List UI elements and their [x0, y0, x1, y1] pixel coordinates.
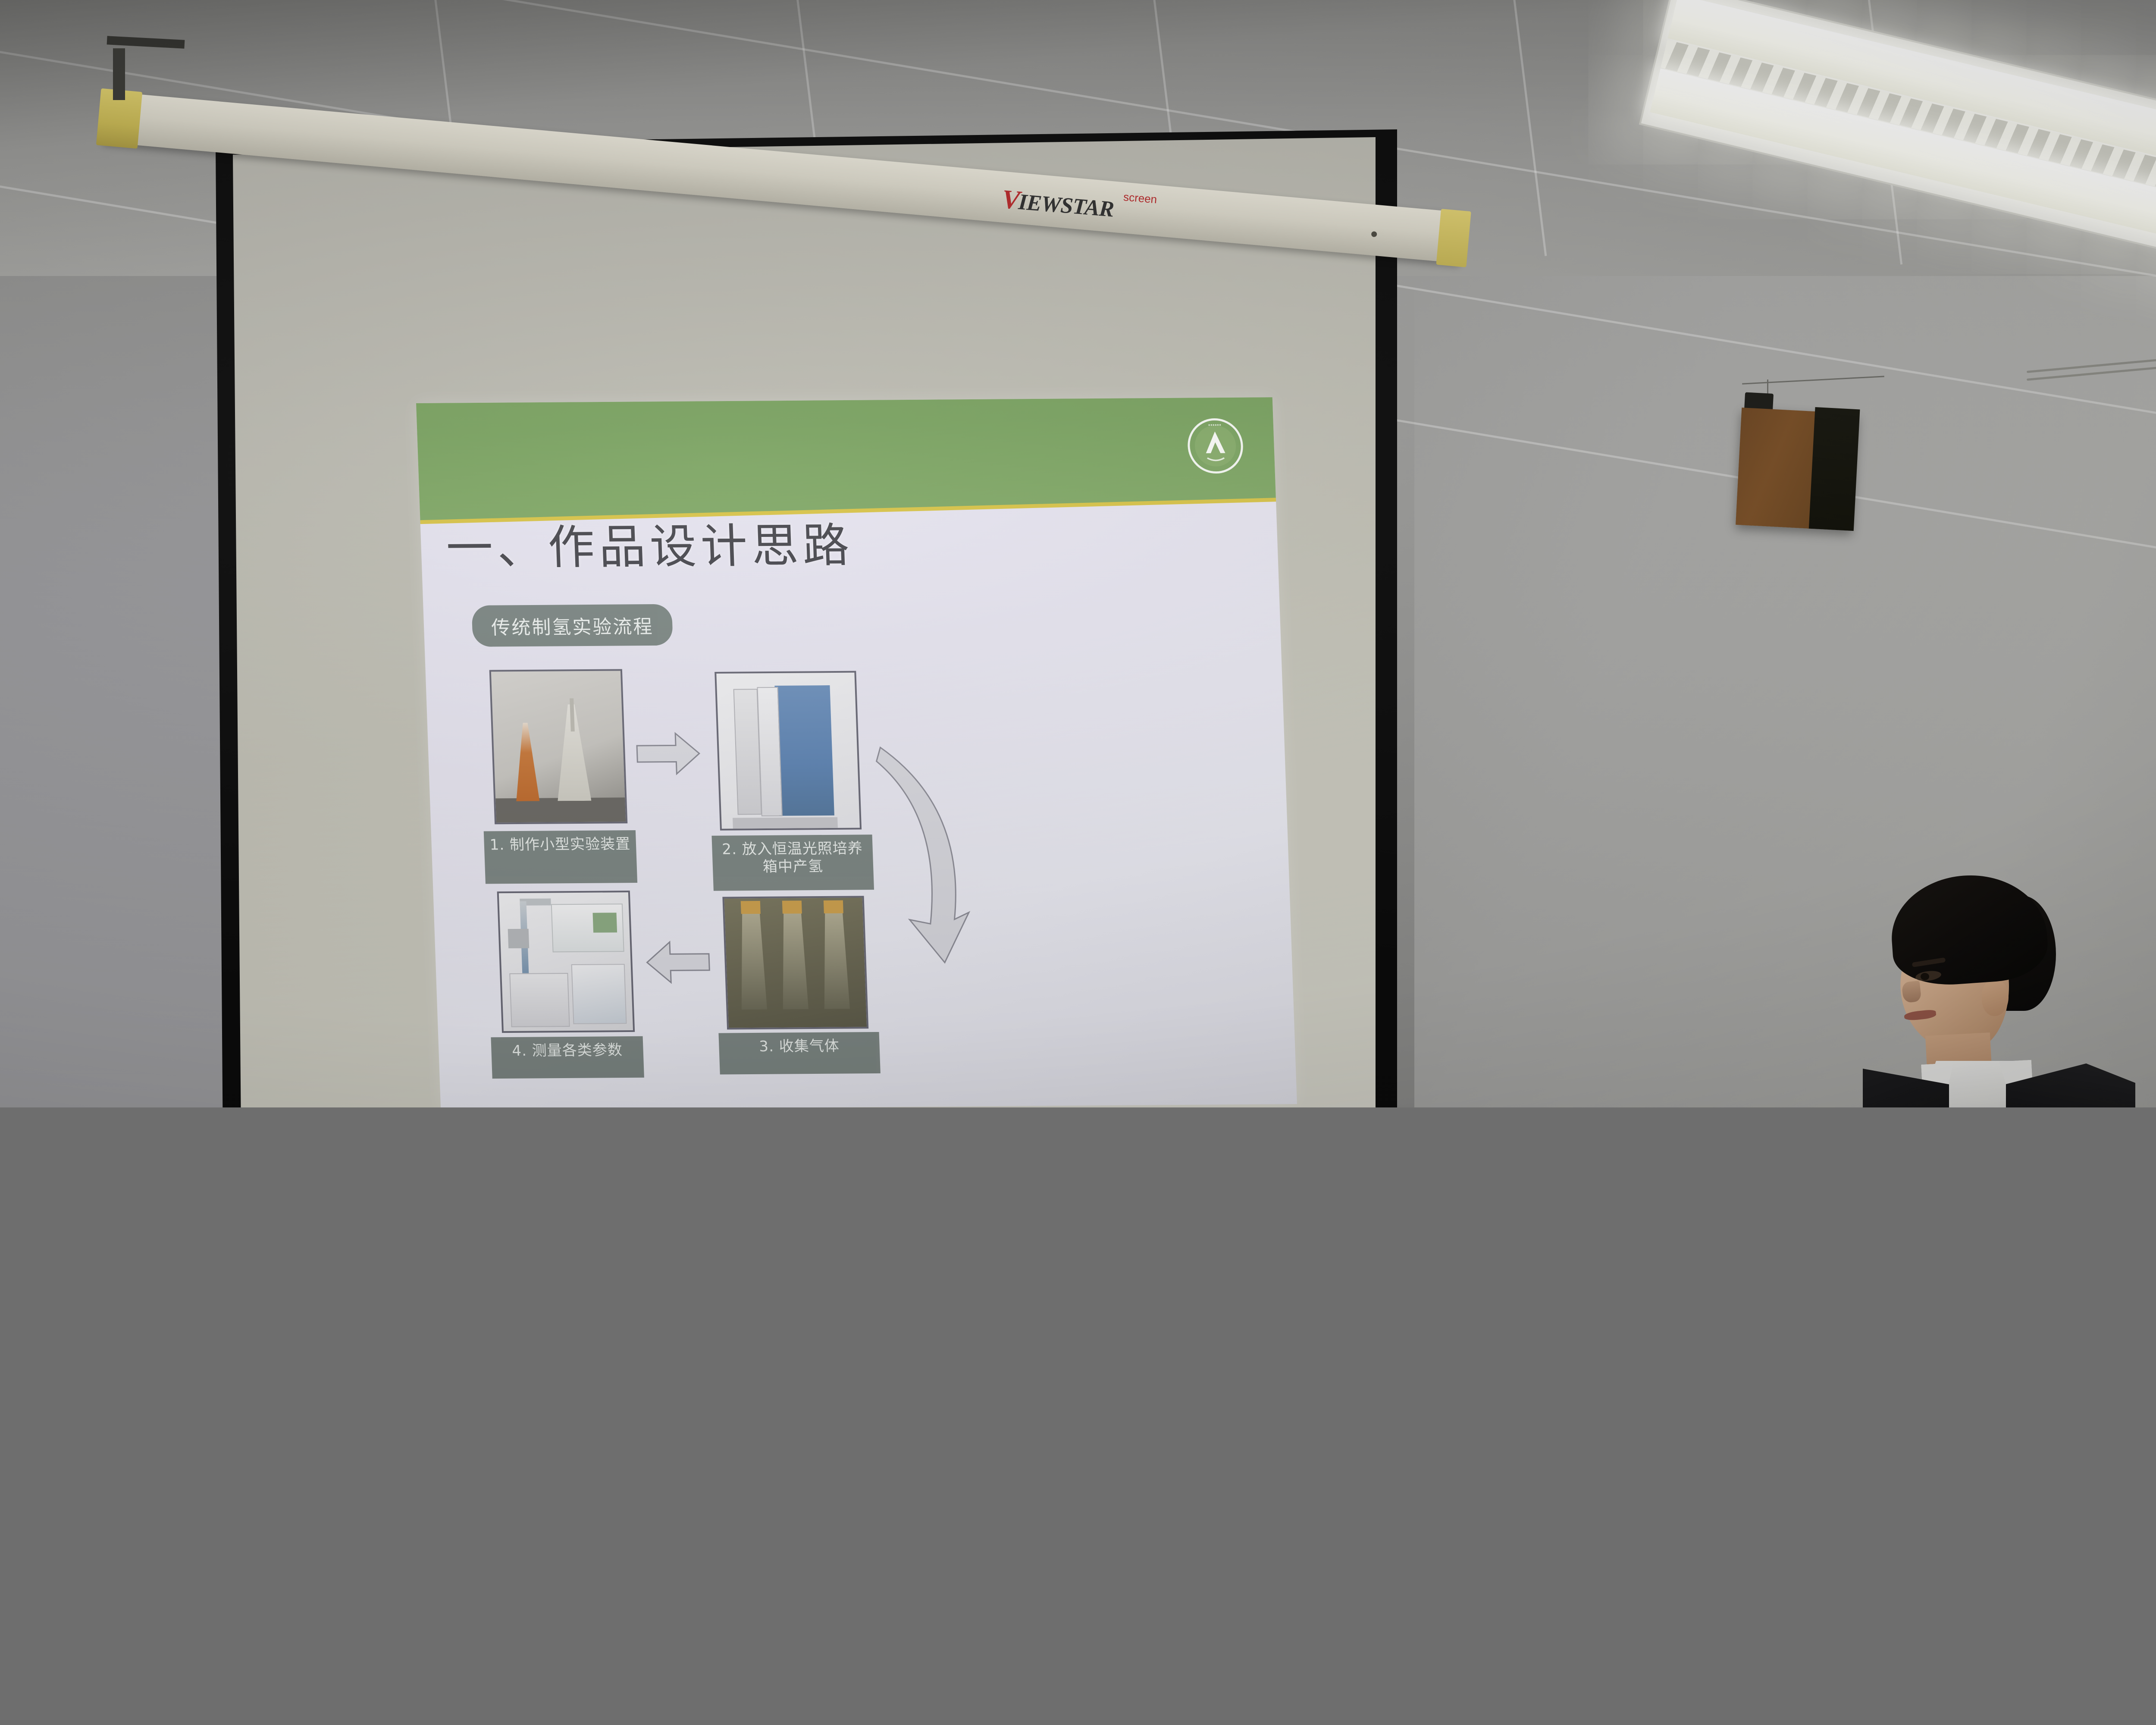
flow-label-4: 4. 测量各类参数 [491, 1036, 644, 1079]
screenshot-root: ●●●●●● 一、作品设计思路 传统制氢实验流程 1. 制作小型实验装置 [0, 0, 2156, 1725]
wall-mounted-speaker [1736, 408, 1858, 531]
svg-text:●●●●●●: ●●●●●● [1208, 423, 1221, 427]
speaker-cabinet [1736, 408, 1818, 529]
screen-mount-bracket [113, 48, 125, 100]
viewstar-wordmark: IEWSTAR [1018, 190, 1115, 222]
flow-label-1: 1. 制作小型实验装置 [484, 830, 637, 884]
flow-thumb-instruments [497, 891, 635, 1033]
flow-thumb-lab-glassware [489, 669, 628, 824]
presenter-hair [1888, 870, 2050, 989]
presenter-ear [1982, 979, 2009, 1016]
flow-thumb-gas-collection [722, 896, 868, 1029]
viewstar-sublabel: screen [1123, 190, 1157, 206]
projected-slide: ●●●●●● 一、作品设计思路 传统制氢实验流程 1. 制作小型实验装置 [416, 397, 1297, 1107]
flow-thumb-incubator [714, 671, 862, 831]
wall-far-left [0, 241, 241, 1107]
arrow-step1-to-step2 [636, 730, 702, 780]
housing-endcap-right [1436, 209, 1471, 267]
housing-screw [1371, 231, 1377, 237]
slide-section-badge: 传统制氢实验流程 [471, 604, 673, 647]
cropped-gray-area [0, 1107, 2156, 1725]
presenter-person [1876, 875, 2143, 1107]
viewstar-brand-logo: VIEWSTAR screen [1001, 184, 1115, 224]
presenter-pupil [1921, 973, 1929, 980]
photograph-region: ●●●●●● 一、作品设计思路 传统制氢实验流程 1. 制作小型实验装置 [0, 0, 2156, 1107]
arrow-step2-to-step3 [872, 738, 984, 974]
slide-header-band [416, 397, 1297, 524]
flow-label-3: 3. 收集气体 [718, 1032, 880, 1075]
speaker-grille [1809, 407, 1860, 531]
university-seal-logo: ●●●●●● [1184, 416, 1247, 477]
arrow-step3-to-step4 [645, 938, 711, 988]
flow-label-2: 2. 放入恒温光照培养箱中产氢 [711, 834, 874, 891]
viewstar-v-letter: V [1001, 185, 1020, 215]
slide-flow-diagram: 1. 制作小型实验装置 2. 放入恒温光照培养箱中产氢 [438, 660, 1273, 1106]
slide-title: 一、作品设计思路 [445, 508, 855, 578]
